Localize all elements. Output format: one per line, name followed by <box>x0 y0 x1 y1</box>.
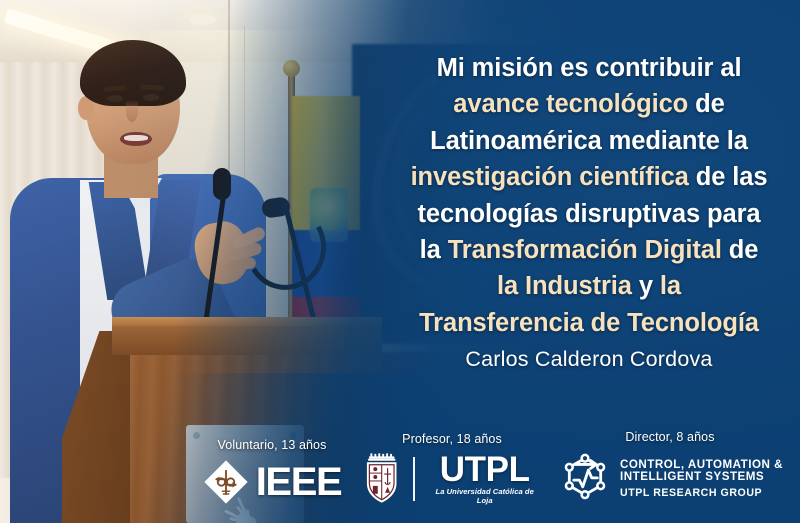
presentation-slide: Mi misión es contribuir alavance tecnoló… <box>0 0 800 523</box>
headline-line: tecnologías disruptivas para <box>386 196 792 232</box>
headline-text: de <box>688 90 725 118</box>
headline-emphasis: Transferencia de Tecnología <box>419 309 759 337</box>
cais-line-2: INTELLIGENT SYSTEMS <box>620 471 783 484</box>
headline-text: de las <box>689 163 768 191</box>
cais-line-3: UTPL RESEARCH GROUP <box>620 488 783 499</box>
cais-caption: Director, 8 años <box>548 430 792 444</box>
headline-text: y <box>632 272 660 300</box>
ieee-wordmark: IEEE <box>256 462 342 502</box>
mission-headline: Mi misión es contribuir alavance tecnoló… <box>386 50 792 341</box>
speaker-name: Carlos Calderon Cordova <box>386 347 792 372</box>
headline-text: Latinoamérica mediante la <box>430 127 748 155</box>
utpl-logo-divider <box>413 457 415 501</box>
headline-text: Mi misión es contribuir al <box>437 54 742 82</box>
cais-wordmark-group: CONTROL, AUTOMATION & INTELLIGENT SYSTEM… <box>620 459 783 499</box>
headline-text: tecnologías disruptivas para <box>418 200 761 228</box>
headline-line: Mi misión es contribuir al <box>386 50 792 86</box>
ieee-diamond-icon <box>203 459 249 505</box>
headline-line: la Transformación Digital de <box>386 232 792 268</box>
affiliation-ieee: Voluntario, 13 años <box>172 438 372 505</box>
headline-emphasis: avance tecnológico <box>453 90 688 118</box>
utpl-tagline: La Universidad Católica de Loja <box>427 487 542 505</box>
headline-emphasis: la <box>660 272 681 300</box>
hexagon-waveform-icon <box>557 451 613 507</box>
ieee-caption: Voluntario, 13 años <box>172 438 372 452</box>
cais-logo-row: CONTROL, AUTOMATION & INTELLIGENT SYSTEM… <box>548 451 792 507</box>
headline-text: de <box>722 236 759 264</box>
headline-emphasis: Transformación Digital <box>448 236 722 264</box>
headline-line: la Industria y la <box>386 268 792 304</box>
headline-line: avance tecnológico de <box>386 86 792 122</box>
utpl-caption: Profesor, 18 años <box>362 432 542 446</box>
headline-emphasis: la Industria <box>497 272 632 300</box>
affiliation-logo-strip: Voluntario, 13 años <box>0 413 800 523</box>
headline-line: investigación científica de las <box>386 159 792 195</box>
utpl-wordmark-group: UTPL La Universidad Católica de Loja <box>427 453 542 505</box>
utpl-logo-row: UTPL La Universidad Católica de Loja <box>362 453 542 505</box>
affiliation-utpl: Profesor, 18 años <box>362 432 542 505</box>
headline-emphasis: investigación científica <box>411 163 689 191</box>
utpl-wordmark: UTPL <box>427 453 542 486</box>
ieee-logo-row: IEEE <box>172 459 372 505</box>
utpl-shield-icon <box>362 453 401 505</box>
affiliation-cais: Director, 8 años <box>548 430 792 507</box>
headline-line: Latinoamérica mediante la <box>386 123 792 159</box>
headline-line: Transferencia de Tecnología <box>386 305 792 341</box>
headline-text: la <box>420 236 448 264</box>
